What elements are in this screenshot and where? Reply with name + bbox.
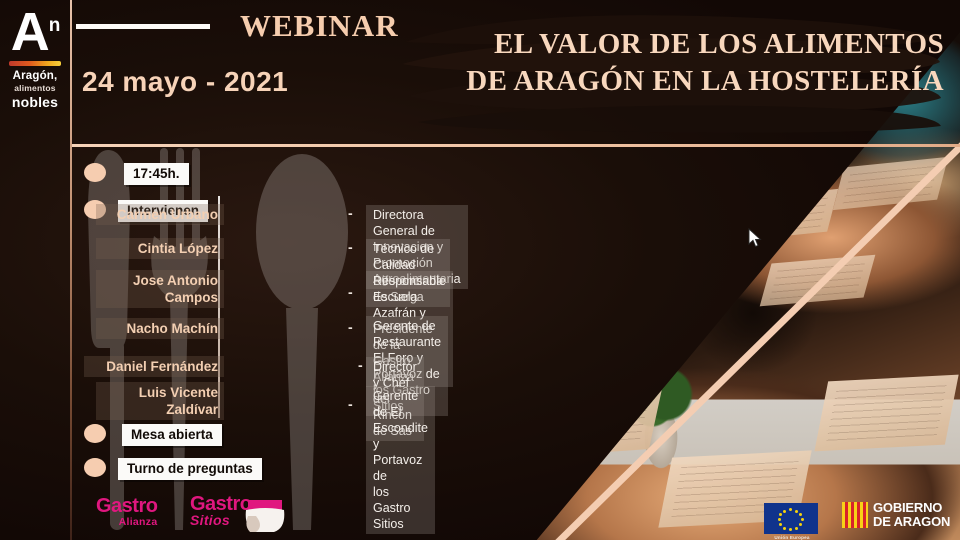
webinar-underline bbox=[76, 24, 210, 29]
speaker-role: Gerente de El Escondite y Portavoz de lo… bbox=[366, 386, 435, 534]
aragon-alimentos-nobles-logo: An Aragón, alimentos nobles bbox=[2, 6, 68, 110]
webinar-slide: An Aragón, alimentos nobles WEBINAR 24 m… bbox=[0, 0, 960, 540]
chip-open-table: Mesa abierta bbox=[122, 424, 222, 446]
title-line-1: EL VALOR DE LOS ALIMENTOS bbox=[494, 28, 944, 60]
gastro-alianza-logo: Gastro Alianza bbox=[96, 496, 157, 528]
chip-questions: Turno de preguntas bbox=[118, 458, 262, 480]
logo-line-2: alimentos bbox=[2, 83, 68, 94]
webinar-kicker: WEBINAR bbox=[240, 8, 399, 44]
speaker-dash: - bbox=[348, 396, 353, 412]
gobierno-de-aragon-logo: GOBIERNO DE ARAGON bbox=[842, 501, 950, 528]
aragon-flag-icon bbox=[842, 502, 868, 528]
title-line-2: DE ARAGÓN EN LA HOSTELERÍA bbox=[414, 63, 944, 100]
logo-line-3: nobles bbox=[2, 94, 68, 110]
speaker-name: Nacho Machín bbox=[96, 318, 224, 339]
speaker-name: Cintia López bbox=[96, 238, 224, 259]
european-union-logo: Unión Europea bbox=[764, 503, 820, 540]
gastro-alianza-name: Gastro bbox=[96, 496, 157, 516]
logo-letter: A bbox=[11, 2, 49, 62]
speaker-name: Luis Vicente Zaldívar bbox=[96, 382, 224, 420]
logo-line-1: Aragón, bbox=[2, 70, 68, 83]
chip-time: 17:45h. bbox=[124, 163, 189, 185]
mouse-cursor-icon bbox=[748, 228, 762, 248]
speaker-dash: - bbox=[348, 205, 353, 221]
bullet-time bbox=[84, 163, 106, 182]
speaker-name: Carmen Urbano bbox=[96, 204, 224, 225]
eu-caption: Unión Europea bbox=[764, 535, 820, 540]
speaker-dash: - bbox=[348, 284, 353, 300]
gobierno-line-2: DE ARAGON bbox=[873, 515, 950, 529]
vertical-divider bbox=[70, 0, 72, 540]
speaker-dash: - bbox=[348, 239, 353, 255]
page-title: EL VALOR DE LOS ALIMENTOS DE ARAGÓN EN L… bbox=[414, 26, 944, 100]
speaker-dash: - bbox=[348, 319, 353, 335]
gobierno-line-1: GOBIERNO bbox=[873, 501, 950, 515]
speaker-name: Jose Antonio Campos bbox=[96, 270, 224, 308]
logo-mark: An bbox=[11, 6, 60, 58]
chef-hat-icon bbox=[242, 486, 288, 534]
header-separator bbox=[72, 144, 960, 147]
gastro-alianza-sub: Alianza bbox=[96, 516, 157, 528]
bullet-questions bbox=[84, 458, 106, 477]
eu-flag-icon bbox=[764, 503, 818, 534]
logo-superscript: n bbox=[49, 15, 60, 36]
event-date: 24 mayo - 2021 bbox=[82, 66, 288, 98]
bullet-open-table bbox=[84, 424, 106, 443]
speaker-dash: - bbox=[358, 357, 363, 373]
speaker-name: Daniel Fernández bbox=[84, 356, 224, 377]
gobierno-text: GOBIERNO DE ARAGON bbox=[873, 501, 950, 528]
